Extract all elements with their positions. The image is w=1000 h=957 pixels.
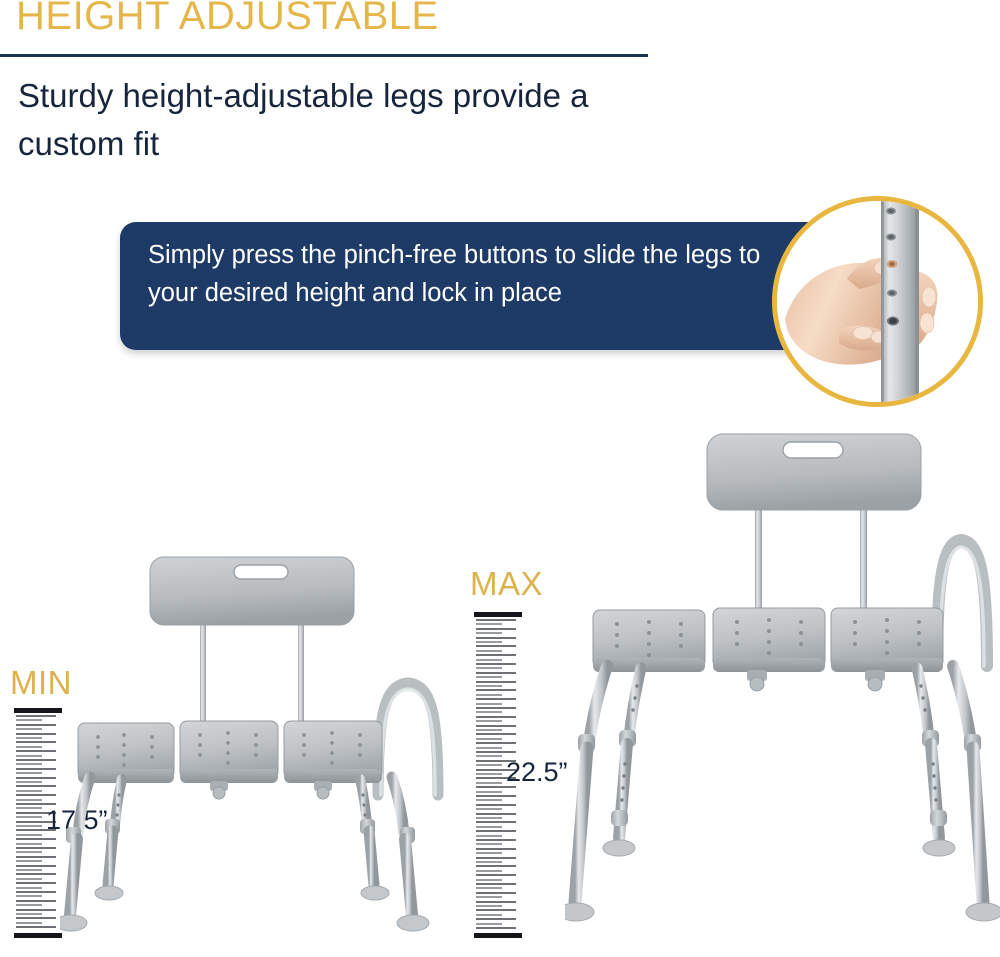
infographic-page: HEIGHT ADJUSTABLE Sturdy height-adjustab… [0,0,1000,957]
ruler-tick [16,834,42,836]
ruler-tick [16,781,42,783]
ruler-tick [16,728,42,730]
ruler-tick [16,851,42,853]
ruler-tick [476,681,516,683]
ruler-tick [16,724,56,726]
ruler-tick [476,901,516,903]
ruler-tick [476,698,516,700]
ruler-tick [476,830,516,832]
ruler-tick [476,857,516,859]
ruler-tick [16,746,42,748]
ruler-bottom-cap [474,933,522,938]
transfer-bench-highest-height [565,418,1000,957]
ruler-bottom-cap [14,933,62,938]
ruler-tick [16,922,42,924]
ruler-top-cap [474,612,522,617]
ruler-tick [476,689,516,691]
instruction-callout-box: Simply press the pinch-free buttons to s… [120,222,820,350]
ruler-tick [16,755,42,757]
ruler-tick [16,768,56,770]
ruler-tick [16,878,42,880]
ruler-tick [16,719,42,721]
ruler-tick [16,891,56,893]
ruler-tick [16,790,42,792]
ruler-tick [16,913,42,915]
ruler-tick [476,628,516,630]
ruler-tick [16,799,42,801]
ruler-tick [16,825,42,827]
ruler-tick [476,918,516,920]
ruler-tick [16,772,42,774]
ruler-tick [16,741,56,743]
ruler-tick [16,895,42,897]
ruler-tick [16,807,42,809]
ruler-tick [16,759,56,761]
ruler-tick [476,672,516,674]
ruler-tick [16,882,56,884]
ruler-tick [476,892,516,894]
ruler-tick [16,777,56,779]
ruler-tick [476,909,516,911]
ruler-tick [16,847,56,849]
ruler-tick [16,900,56,902]
ruler-tick [476,821,516,823]
subtitle-text: Sturdy height-adjustable legs provide a … [18,72,638,168]
ruler-tick [16,750,56,752]
ruler-tick [476,848,516,850]
ruler-top-cap [14,708,62,713]
ruler-tick [476,813,516,815]
ruler-tick [476,751,516,753]
ruler-tick [16,926,56,928]
ruler-tick [16,860,42,862]
header-divider [0,54,648,57]
ruler-tick [476,927,516,929]
ruler-tick [476,663,516,665]
ruler-tick [16,816,42,818]
ruler-tick [476,795,516,797]
max-height-value: 22.5” [506,757,568,788]
transfer-bench-lowest-height [60,545,480,957]
ruler-tick [476,874,516,876]
ruler-tick [476,804,516,806]
ruler-tick [16,904,42,906]
hand-pressing-pinch-free-button-photo [772,196,983,407]
ruler-tick [476,637,516,639]
ruler-tick [476,716,516,718]
ruler-tick [476,654,516,656]
ruler-tick [16,785,56,787]
instruction-callout-text: Simply press the pinch-free buttons to s… [148,236,768,312]
ruler-tick [476,865,516,867]
ruler-tick [476,742,516,744]
ruler-tick [16,873,56,875]
ruler-tick [16,794,56,796]
ruler-tick [16,843,42,845]
ruler-tick [476,619,516,621]
ruler-tick [16,733,56,735]
ruler-tick [476,839,516,841]
ruler-tick [16,865,56,867]
ruler-tick [476,707,516,709]
page-title: HEIGHT ADJUSTABLE [16,0,439,39]
ruler-tick [16,909,56,911]
ruler-tick [16,715,56,717]
ruler-tick [16,737,42,739]
ruler-tick [16,887,42,889]
ruler-tick [16,869,42,871]
ruler-tick [476,883,516,885]
ruler-tick [16,917,56,919]
ruler-tick [16,838,56,840]
hand-on-leg-illustration [777,201,978,402]
ruler-tick [16,763,42,765]
ruler-tick [476,733,516,735]
max-ruler-label: MAX [470,565,543,603]
ruler-tick [16,856,56,858]
ruler-tick [476,725,516,727]
ruler-tick [476,645,516,647]
